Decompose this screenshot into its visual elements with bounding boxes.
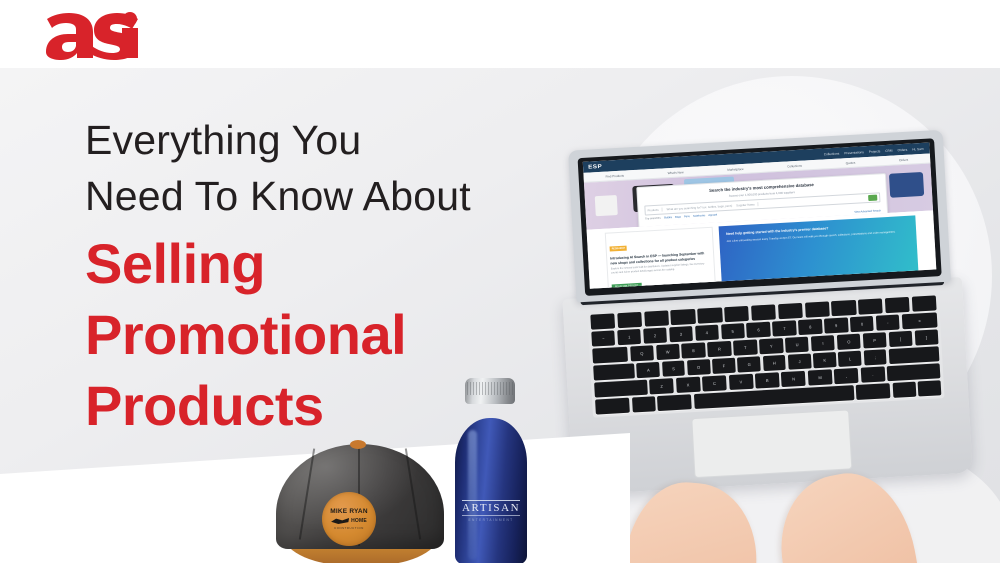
subnav-item[interactable]: Collections <box>787 163 802 168</box>
quick-link[interactable]: Bags <box>675 215 681 218</box>
key[interactable]: = <box>902 312 938 329</box>
bottle-brand-text: ARTISAN <box>462 500 520 516</box>
nav-link[interactable]: Presentations <box>844 150 864 155</box>
laptop-keyboard[interactable]: ~ 1 2 3 4 5 6 7 8 9 0 - = Q W <box>587 292 944 417</box>
key[interactable]: Y <box>759 338 783 354</box>
key[interactable]: S <box>662 361 686 377</box>
patch-logo-row: HOME <box>331 517 367 525</box>
hero-product-image <box>595 195 618 216</box>
key[interactable]: 4 <box>695 325 719 341</box>
header-white-band <box>0 0 1000 68</box>
patch-sub-text: CONSTRUCTION <box>334 526 364 530</box>
bottle-body <box>455 418 527 563</box>
key[interactable]: M <box>808 370 833 386</box>
key[interactable]: T <box>733 340 757 356</box>
key[interactable]: I <box>811 335 835 351</box>
promo-card[interactable]: Need help getting started with the indus… <box>719 215 919 288</box>
headline-line-2: Need To Know About <box>85 168 565 224</box>
quick-link[interactable]: Notebooks <box>693 214 706 218</box>
key[interactable]: A <box>637 362 661 378</box>
quick-link[interactable]: Bottles <box>664 216 672 219</box>
key[interactable]: H <box>763 355 787 371</box>
key[interactable]: O <box>837 334 861 350</box>
key[interactable]: . <box>861 367 886 383</box>
key[interactable]: 6 <box>746 322 770 338</box>
cap-seam <box>405 448 421 539</box>
key[interactable]: ~ <box>591 330 615 346</box>
baseball-cap-product: MIKE RYAN HOME CONSTRUCTION <box>262 444 458 563</box>
search-category-select[interactable]: Products <box>647 207 662 212</box>
bottle-label: ARTISAN ENTERTAINMENT <box>462 500 520 522</box>
key[interactable]: Z <box>649 378 674 394</box>
key[interactable]: X <box>676 377 701 393</box>
nav-link[interactable]: Projects <box>869 149 881 154</box>
key[interactable]: B <box>755 373 780 389</box>
headline-line-3: Selling <box>85 232 565 295</box>
nav-link[interactable]: Hi, Sam <box>912 146 924 151</box>
key[interactable]: W <box>656 344 680 360</box>
promotional-banner: ® Everything You Need To Know About Sell… <box>0 0 1000 563</box>
esp-logo[interactable]: ESP <box>588 163 602 170</box>
bottle-subtitle-text: ENTERTAINMENT <box>462 518 520 522</box>
laptop-screen: ESP Collections Presentations Projects C… <box>583 143 937 289</box>
supplier-input[interactable]: Supplier Name <box>736 202 759 207</box>
nav-link[interactable]: CRM <box>885 148 892 152</box>
key[interactable]: F <box>712 358 736 374</box>
search-go-button[interactable] <box>868 194 877 200</box>
subnav-item[interactable]: Find Products <box>605 173 624 178</box>
trademark-symbol: ® <box>116 13 122 21</box>
key[interactable]: E <box>682 343 706 359</box>
key[interactable]: 7 <box>772 320 796 336</box>
quick-label: Top searches: <box>645 217 661 221</box>
patch-name-text: MIKE RYAN <box>330 508 367 515</box>
key[interactable]: P <box>863 332 887 348</box>
bottle-highlight <box>468 430 477 560</box>
bottle-cap-ridges <box>467 382 513 395</box>
key[interactable]: ; <box>863 349 887 365</box>
subnav-item[interactable]: Marketplace <box>727 166 744 171</box>
search-input[interactable]: What are you searching for? (ex. bottles… <box>666 203 732 211</box>
key[interactable]: 3 <box>669 326 693 342</box>
nav-link[interactable]: Orders <box>897 147 907 152</box>
key[interactable]: 0 <box>850 316 874 332</box>
key[interactable]: Q <box>630 345 654 361</box>
cap-top-button <box>350 440 366 449</box>
key[interactable]: ] <box>914 330 938 346</box>
key[interactable]: 8 <box>798 319 822 335</box>
key[interactable]: K <box>813 352 837 368</box>
laptop-trackpad[interactable] <box>691 409 852 478</box>
key[interactable]: C <box>702 376 727 392</box>
laptop-lid: ESP Collections Presentations Projects C… <box>568 130 951 303</box>
quick-link[interactable]: Pens <box>684 215 690 218</box>
key[interactable]: V <box>728 374 753 390</box>
subnav-item[interactable]: Quotes <box>846 160 856 165</box>
key[interactable]: 5 <box>721 323 745 339</box>
article-tag: RESEARCH <box>610 246 628 252</box>
subnav-item[interactable]: Orders <box>899 157 908 162</box>
subnav-item[interactable]: What's New <box>668 170 684 175</box>
key[interactable]: - <box>876 315 900 331</box>
roof-icon <box>331 517 349 525</box>
article-card[interactable]: RESEARCH Introducing AI Search in ESP — … <box>605 227 716 289</box>
key[interactable]: J <box>788 354 812 370</box>
quick-link[interactable]: Apparel <box>708 213 717 216</box>
key[interactable]: D <box>687 359 711 375</box>
hero-product-image <box>889 172 924 198</box>
key[interactable]: G <box>737 357 761 373</box>
bottle-neck <box>472 401 508 425</box>
key[interactable]: L <box>838 351 862 367</box>
key[interactable]: 1 <box>617 329 641 345</box>
article-cta-button[interactable]: READ THE REPORT <box>612 282 642 288</box>
headline-line-1: Everything You <box>85 112 565 168</box>
headline-line-4: Promotional <box>85 303 565 366</box>
key[interactable]: [ <box>888 331 912 347</box>
cap-leather-patch: MIKE RYAN HOME CONSTRUCTION <box>322 492 376 546</box>
water-bottle-product: ARTISAN ENTERTAINMENT <box>448 378 536 563</box>
key[interactable]: U <box>785 337 809 353</box>
key[interactable]: N <box>781 371 806 387</box>
key[interactable]: 2 <box>643 328 667 344</box>
asi-logo[interactable]: ® <box>42 10 142 60</box>
key[interactable]: 9 <box>824 317 848 333</box>
laptop-bezel: ESP Collections Presentations Projects C… <box>578 138 942 296</box>
patch-word-text: HOME <box>351 518 367 524</box>
cap-seam <box>299 448 315 539</box>
nav-link[interactable]: Collections <box>824 151 840 156</box>
key[interactable]: R <box>707 341 731 357</box>
key[interactable]: , <box>834 368 859 384</box>
hand-left <box>612 478 763 563</box>
